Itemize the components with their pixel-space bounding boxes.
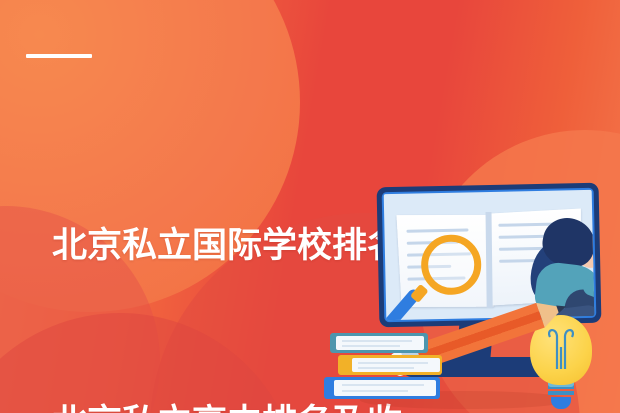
online-learning-illustration (330, 175, 620, 413)
page-line (342, 384, 424, 386)
lightbulb-filament-icon (544, 327, 578, 371)
book-pages (336, 336, 424, 350)
page-line (342, 340, 412, 342)
computer-monitor-icon (377, 183, 602, 328)
title-divider-rule (26, 54, 92, 58)
lightbulb-base-ring (548, 391, 574, 395)
book-pages (352, 358, 440, 372)
book-pages (334, 380, 436, 396)
promotional-banner: 北京私立国际学校排名及收费（ 北京私立高中排名及收 (0, 0, 620, 413)
open-book-spine (486, 212, 493, 308)
pencil-lead (556, 303, 567, 313)
lightbulb-cap (551, 397, 571, 409)
page-line (358, 362, 428, 364)
page-line (358, 367, 414, 369)
page-line (342, 345, 400, 347)
page-line (342, 390, 408, 392)
